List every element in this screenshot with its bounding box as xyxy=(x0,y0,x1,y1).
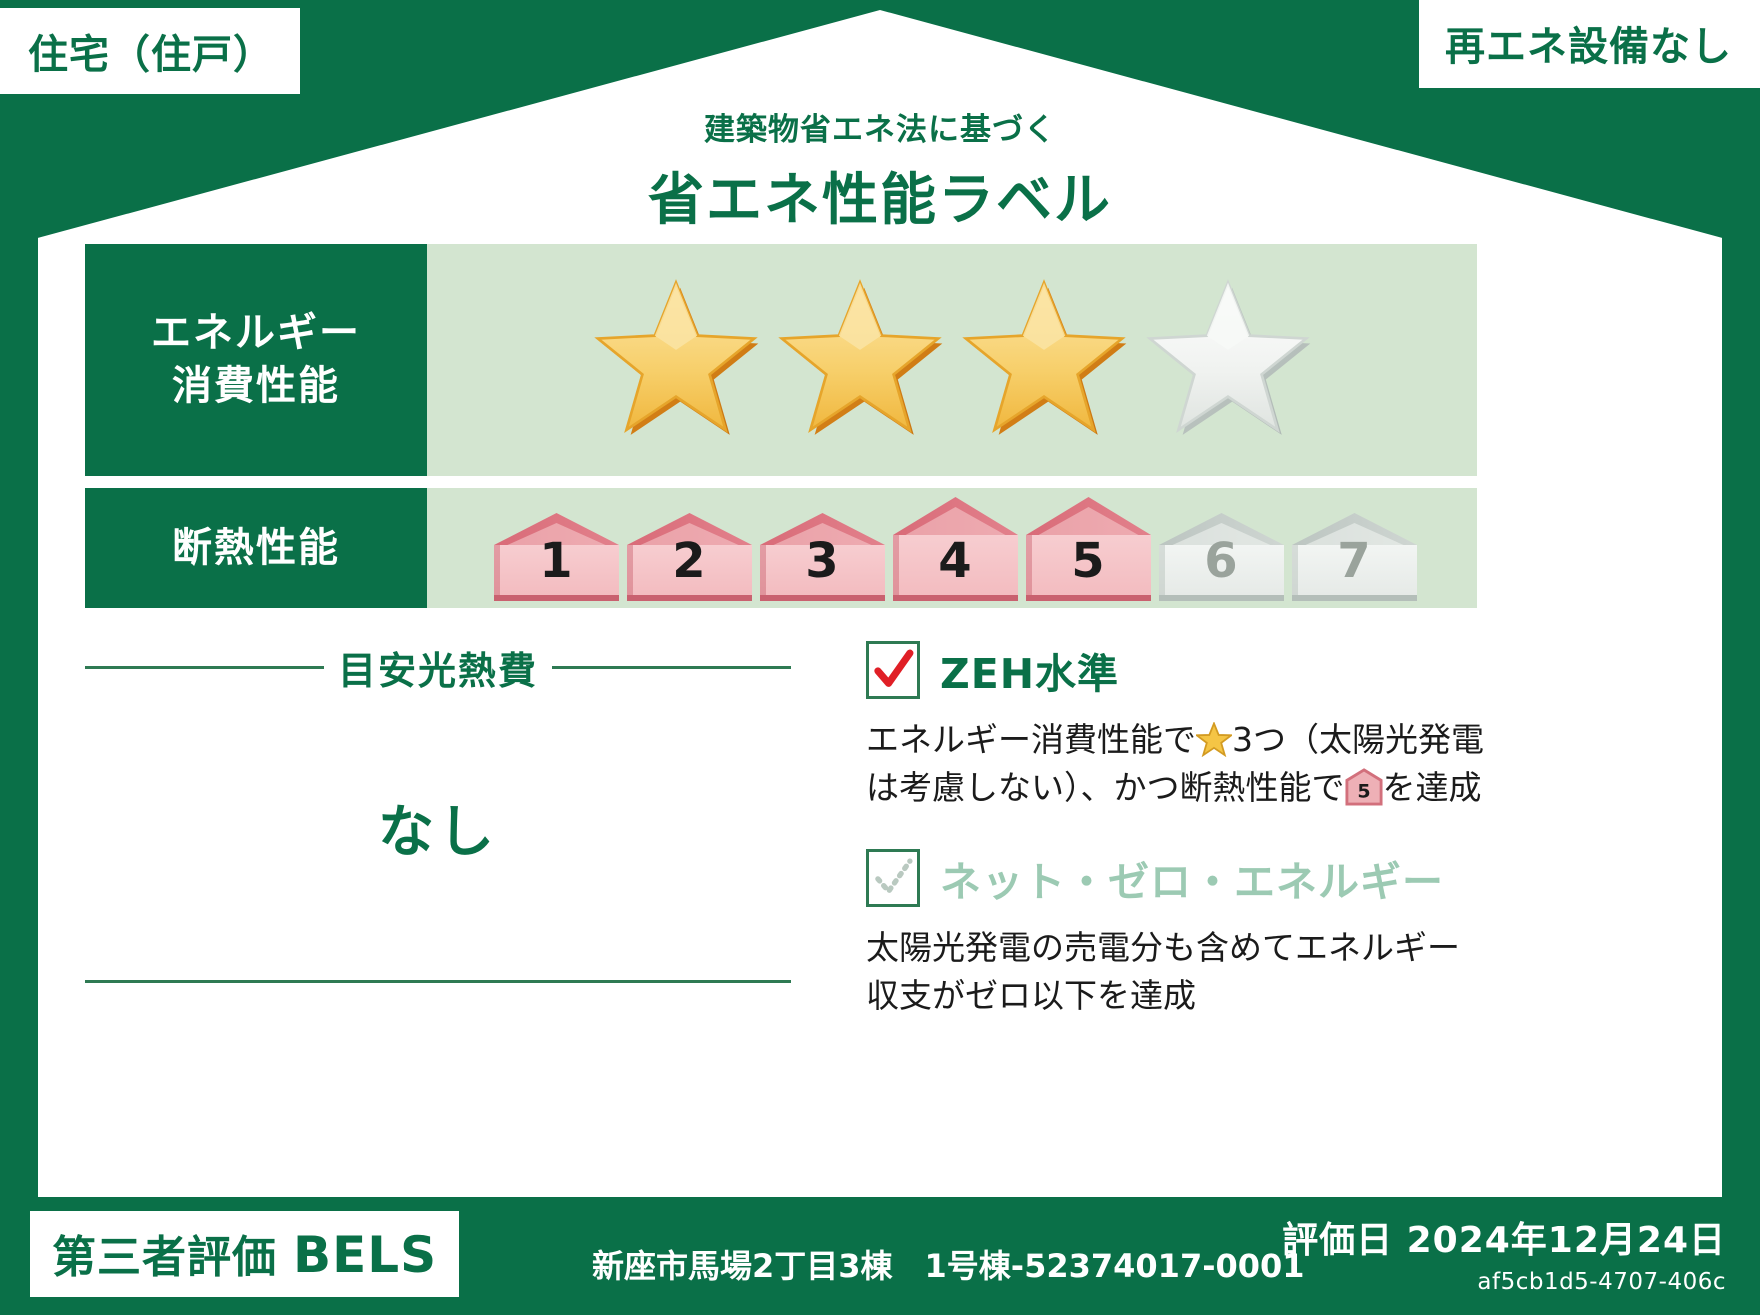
utility-cost-value: なし xyxy=(85,787,791,868)
energy-label-line2: 消費性能 xyxy=(172,360,340,413)
inline-star-icon xyxy=(1196,722,1232,756)
energy-consumption-value xyxy=(427,244,1477,476)
insulation-label: 断熱性能 xyxy=(85,488,427,608)
zeh-desc-star-count: 3つ（太陽光発電 xyxy=(1232,720,1484,759)
bels-badge: 第三者評価 BELS xyxy=(30,1211,459,1297)
svg-text:5: 5 xyxy=(1357,780,1370,802)
page-title: 省エネ性能ラベル xyxy=(0,155,1760,236)
insulation-grade-number: 1 xyxy=(491,533,622,589)
renewable-energy-label: 再エネ設備なし xyxy=(1445,24,1732,70)
zeh-desc-line1: エネルギー消費性能で xyxy=(866,720,1196,759)
zeh-checkbox[interactable] xyxy=(866,641,920,699)
star-empty-icon xyxy=(1144,276,1312,444)
insulation-grade-number: 4 xyxy=(890,533,1021,589)
insulation-grade-4: 4 xyxy=(890,495,1021,601)
rating-rows: エネルギー 消費性能 断熱性能 1234567 xyxy=(85,244,1477,620)
insulation-grade-6: 6 xyxy=(1156,511,1287,601)
energy-label-line1: エネルギー xyxy=(151,307,361,360)
bels-logo-text: BELS xyxy=(293,1226,437,1284)
insulation-grade-2: 2 xyxy=(624,511,755,601)
insulation-grade-5: 5 xyxy=(1023,495,1154,601)
heading-rule-left xyxy=(85,666,324,669)
utility-cost-heading: 目安光熱費 xyxy=(85,640,791,695)
third-party-label: 第三者評価 xyxy=(52,1221,277,1285)
energy-consumption-label: エネルギー 消費性能 xyxy=(85,244,427,476)
zeh-description: エネルギー消費性能で3つ（太陽光発電 は考慮しない）、かつ断熱性能で5を達成 xyxy=(866,716,1486,812)
insulation-grade-scale: 1234567 xyxy=(485,495,1420,601)
zeh-desc-line2-tail: を達成 xyxy=(1383,768,1482,807)
zeh-desc-line2: は考慮しない）、かつ断熱性能で xyxy=(866,768,1345,807)
netzero-title: ネット・ゼロ・エネルギー xyxy=(940,848,1444,908)
title-subtitle: 建築物省エネ法に基づく xyxy=(0,104,1760,149)
energy-consumption-row: エネルギー 消費性能 xyxy=(85,244,1477,476)
evaluation-info: 評価日 2024年12月24日 af5cb1d5-4707-406c xyxy=(1282,1211,1726,1295)
insulation-grade-number: 6 xyxy=(1156,533,1287,589)
footer: 第三者評価 BELS 新座市馬場2丁目3棟 1号棟-52374017-0001 … xyxy=(0,1197,1760,1315)
insulation-grade-number: 2 xyxy=(624,533,755,589)
heading-rule-right xyxy=(552,666,791,669)
zeh-block: ZEH水準 エネルギー消費性能で3つ（太陽光発電 は考慮しない）、かつ断熱性能で… xyxy=(866,640,1486,1019)
netzero-check-line: ネット・ゼロ・エネルギー xyxy=(866,848,1486,908)
insulation-label-text: 断熱性能 xyxy=(172,522,340,575)
insulation-value: 1234567 xyxy=(427,488,1477,608)
insulation-grade-number: 7 xyxy=(1289,533,1420,589)
renewable-energy-badge: 再エネ設備なし xyxy=(1419,0,1760,88)
zeh-title: ZEH水準 xyxy=(940,640,1119,700)
insulation-grade-number: 3 xyxy=(757,533,888,589)
star-filled-icon xyxy=(776,276,944,444)
zeh-check-line: ZEH水準 xyxy=(866,640,1486,700)
label-uid: af5cb1d5-4707-406c xyxy=(1282,1269,1726,1295)
building-type-badge: 住宅（住戸） xyxy=(0,8,300,94)
insulation-grade-7: 7 xyxy=(1289,511,1420,601)
property-address: 新座市馬場2丁目3棟 1号棟-52374017-0001 xyxy=(592,1241,1305,1287)
insulation-grade-number: 5 xyxy=(1023,533,1154,589)
energy-performance-label: 住宅（住戸） 再エネ設備なし 建築物省エネ法に基づく 省エネ性能ラベル エネルギ… xyxy=(0,0,1760,1315)
utility-cost-block: 目安光熱費 なし xyxy=(85,640,791,983)
title-block: 建築物省エネ法に基づく 省エネ性能ラベル xyxy=(0,104,1760,236)
utility-cost-title: 目安光熱費 xyxy=(338,640,538,695)
netzero-desc-line2: 収支がゼロ以下を達成 xyxy=(866,976,1196,1015)
inline-grade-badge-icon: 5 xyxy=(1345,768,1383,806)
insulation-grade-3: 3 xyxy=(757,511,888,601)
insulation-row: 断熱性能 1234567 xyxy=(85,488,1477,608)
insulation-grade-1: 1 xyxy=(491,511,622,601)
netzero-desc-line1: 太陽光発電の売電分も含めてエネルギー xyxy=(866,928,1460,967)
star-filled-icon xyxy=(592,276,760,444)
star-rating xyxy=(592,276,1312,444)
building-type-label: 住宅（住戸） xyxy=(28,32,274,78)
netzero-checkbox[interactable] xyxy=(866,849,920,907)
star-filled-icon xyxy=(960,276,1128,444)
netzero-description: 太陽光発電の売電分も含めてエネルギー 収支がゼロ以下を達成 xyxy=(866,924,1486,1020)
evaluation-date: 評価日 2024年12月24日 xyxy=(1282,1211,1726,1263)
utility-cost-bottom-rule xyxy=(85,980,791,983)
section-spacer xyxy=(866,812,1486,848)
